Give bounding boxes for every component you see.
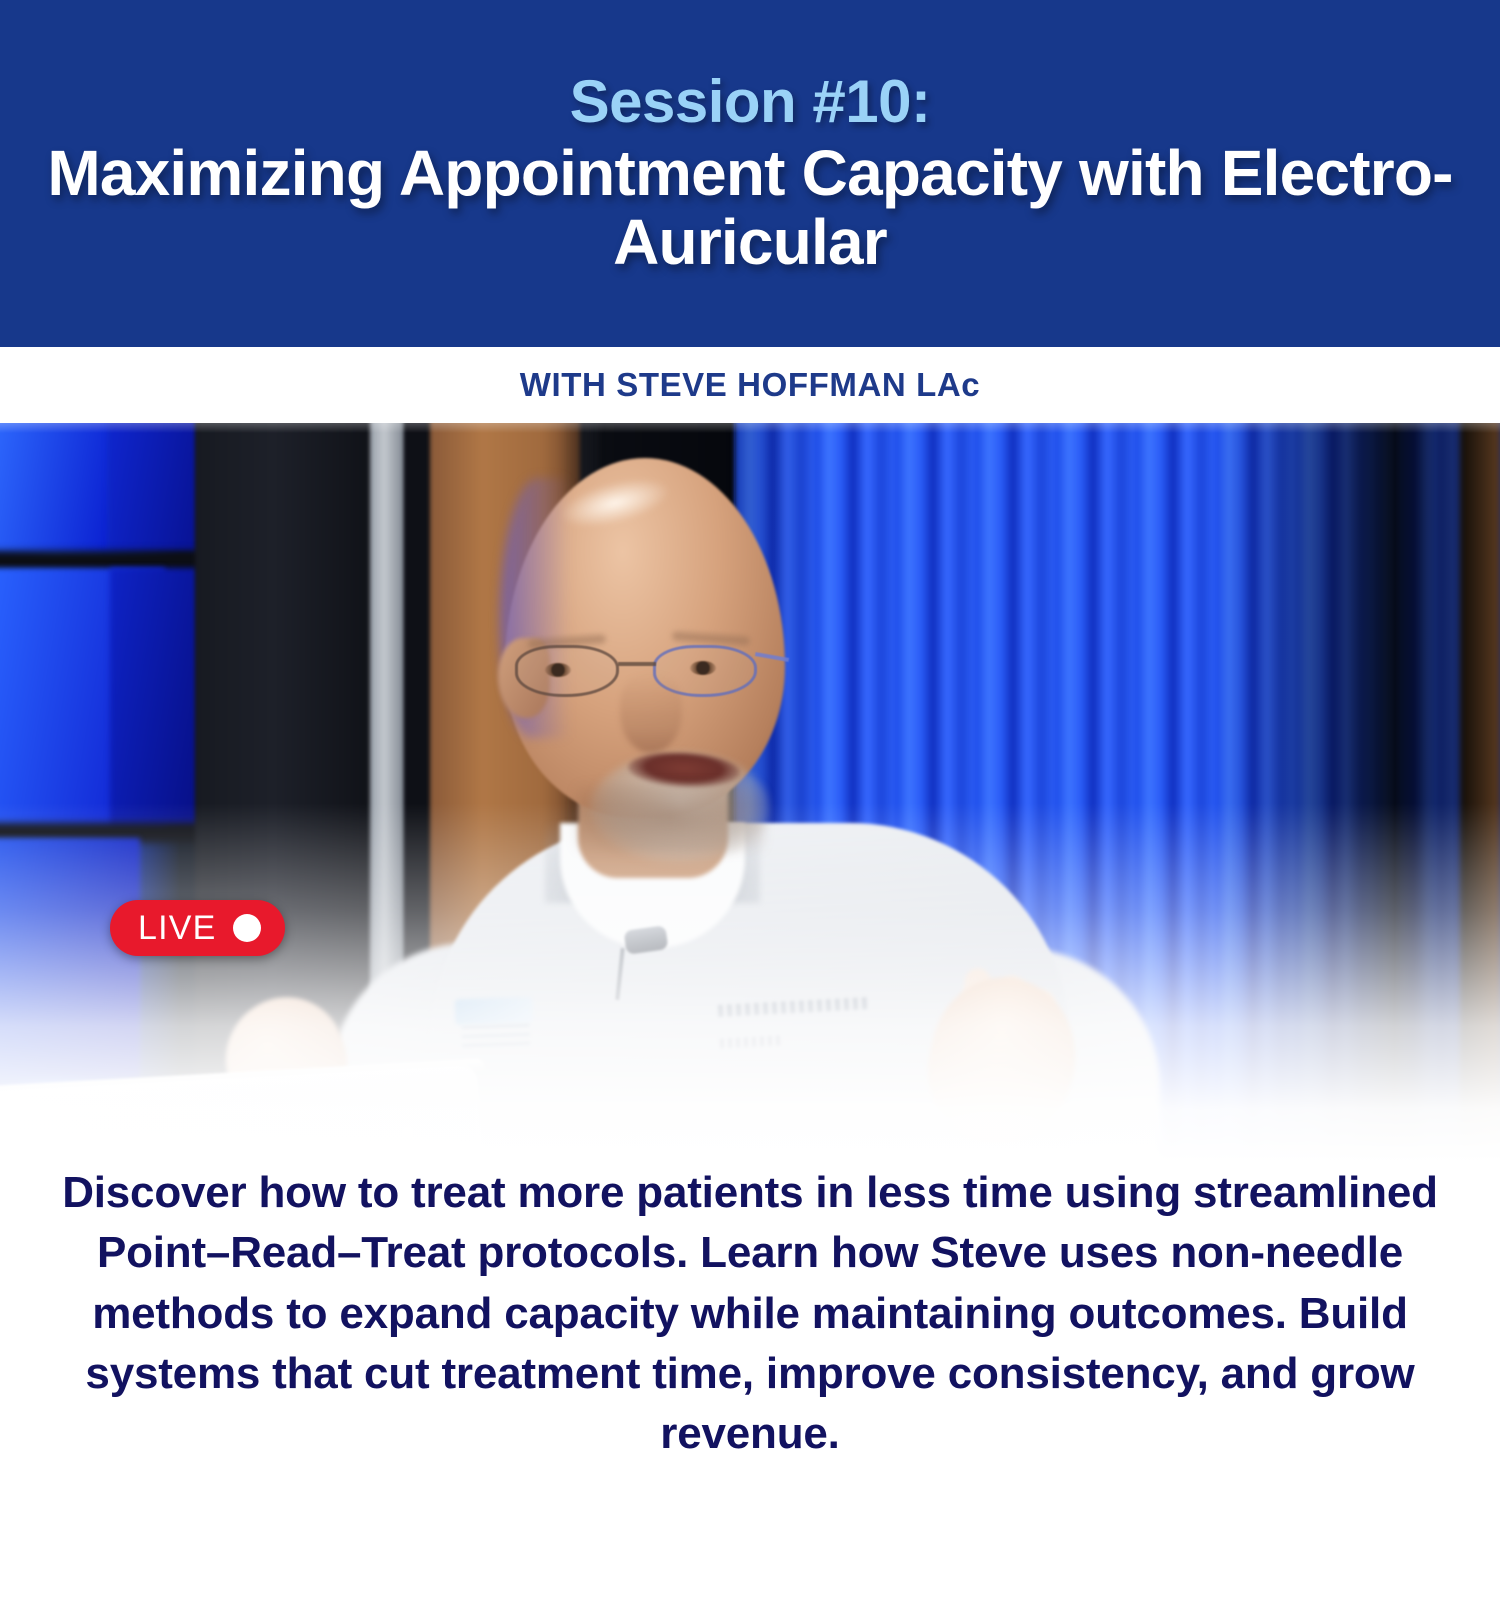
session-description: Discover how to treat more patients in l… — [0, 1163, 1500, 1464]
session-eyebrow: Session #10: — [570, 70, 931, 134]
header-bar: Session #10: Maximizing Appointment Capa… — [0, 0, 1500, 347]
glasses-bridge — [618, 662, 656, 666]
record-dot-icon — [233, 914, 261, 942]
laptop — [0, 1064, 483, 1163]
page-title: Maximizing Appointment Capacity with Ele… — [0, 139, 1500, 277]
live-label: LIVE — [138, 911, 217, 945]
eye-left — [545, 663, 571, 677]
scrub-logo-subtext — [462, 1024, 531, 1052]
video-stage[interactable]: LIVE — [0, 423, 1500, 1163]
speaker-figure — [0, 423, 1500, 1163]
laptop-indicator — [404, 1128, 412, 1136]
status-badge[interactable]: LIVE — [110, 900, 285, 956]
chin-shadow — [575, 783, 765, 853]
nose — [620, 673, 682, 753]
eye-right — [690, 661, 716, 675]
scrub-logo — [455, 997, 534, 1026]
presenter-subtitle: WITH STEVE HOFFMAN LAc — [520, 366, 981, 404]
session-promo-card: Session #10: Maximizing Appointment Capa… — [0, 0, 1500, 1600]
subtitle-band: WITH STEVE HOFFMAN LAc — [0, 347, 1500, 423]
